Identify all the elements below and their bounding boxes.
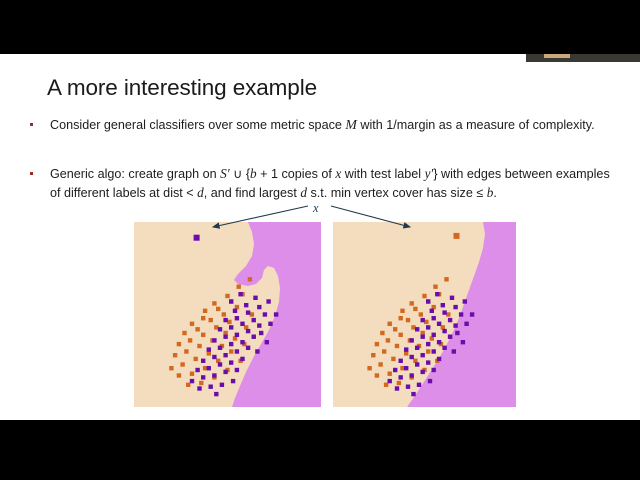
data-point [459,312,463,316]
data-point [218,327,222,331]
data-point [209,318,213,322]
data-point [220,344,224,348]
data-point [223,370,227,374]
data-point [371,353,375,357]
data-point [399,375,403,379]
data-point [180,362,184,366]
data-point [461,340,465,344]
data-point [426,360,430,364]
data-point [441,303,445,307]
data-point [190,322,194,326]
data-point [268,322,272,326]
data-point [190,372,194,376]
data-point [235,368,239,372]
data-point [399,316,403,320]
data-point [194,357,198,361]
data-point [240,322,244,326]
data-point [415,327,419,331]
data-point [218,362,222,366]
left-data-points [169,277,278,396]
data-point [257,305,261,309]
data-point [238,359,242,363]
arrow-to-right-panel [331,206,410,227]
data-point [455,331,459,335]
data-point [442,346,446,350]
data-point [417,383,421,387]
data-point [413,307,417,311]
data-point [244,303,248,307]
data-point [426,349,430,353]
data-point [229,325,233,329]
left-decision-boundary [232,222,321,407]
bullet-text-2: Generic algo: create graph on S′ ∪ {b + … [50,165,620,202]
data-point [266,299,270,303]
data-point [415,362,419,366]
data-point [233,309,237,313]
data-point [375,373,379,377]
data-point [199,381,203,385]
data-point [229,342,233,346]
page-title: A more interesting example [47,75,317,101]
bullet-text-1: Consider general classifiers over some m… [50,116,595,135]
data-point [391,357,395,361]
data-point [252,318,256,322]
data-point [190,379,194,383]
data-point [240,292,244,296]
data-point [421,318,425,322]
data-point [177,373,181,377]
data-point [426,342,430,346]
annotation-label-x: x [313,201,319,216]
data-point [375,342,379,346]
annotation-arrows [0,54,640,420]
arrow-to-left-panel [213,206,308,227]
data-point [246,346,250,350]
data-point [448,318,452,322]
data-point [223,335,227,339]
data-point [207,366,211,370]
data-point [421,370,425,374]
data-point [201,333,205,337]
data-point [406,385,410,389]
data-point [197,386,201,390]
data-point [274,312,278,316]
data-point [463,299,467,303]
data-point [410,338,414,342]
data-point [424,320,428,324]
left-panel-plot [134,222,321,407]
right-test-point [454,233,460,239]
data-point [426,325,430,329]
data-point [435,359,439,363]
data-point [223,331,227,335]
data-point [410,301,414,305]
data-point [203,366,207,370]
data-point [453,323,457,327]
data-point [235,316,239,320]
data-point [410,373,414,377]
data-point [437,322,441,326]
data-point [448,335,452,339]
data-point [421,335,425,339]
data-point [421,331,425,335]
left-panel [134,222,321,407]
right-data-points [367,277,474,396]
data-point [240,357,244,361]
data-point [393,368,397,372]
data-point [386,338,390,342]
data-point [410,355,414,359]
data-point [212,355,216,359]
data-point [203,309,207,313]
data-point [388,379,392,383]
data-point [248,277,252,281]
data-point [216,307,220,311]
data-point [246,329,250,333]
data-point [214,392,218,396]
bullet-marker-icon [30,123,33,126]
data-point [182,331,186,335]
data-point [432,316,436,320]
data-point [430,309,434,313]
data-point [419,312,423,316]
data-point [223,353,227,357]
data-point [367,366,371,370]
data-point [201,316,205,320]
data-point [177,342,181,346]
data-point [421,353,425,357]
data-point [437,292,441,296]
data-point [186,383,190,387]
data-point [439,342,443,346]
data-point [432,349,436,353]
data-point [410,375,414,379]
data-point [397,381,401,385]
data-point [452,349,456,353]
data-point [263,312,267,316]
data-point [238,292,242,296]
data-point [253,296,257,300]
data-point [400,309,404,313]
data-point [235,333,239,337]
figure-two-classifiers: x [0,54,640,420]
data-point [432,333,436,337]
data-point [225,294,229,298]
data-point [225,368,229,372]
data-point [441,325,445,329]
data-point [433,285,437,289]
data-point [380,331,384,335]
data-point [255,349,259,353]
data-point [382,349,386,353]
data-point [448,335,452,339]
data-point [395,344,399,348]
data-point [252,335,256,339]
data-point [195,368,199,372]
video-player-frame: A more interesting example Consider gene… [0,0,640,480]
data-point [252,335,256,339]
data-point [209,385,213,389]
data-point [399,333,403,337]
bullet-item-1: Consider general classifiers over some m… [30,116,620,135]
data-point [395,386,399,390]
data-point [426,299,430,303]
data-point [415,346,419,350]
bullet-marker-icon [30,172,33,175]
data-point [435,292,439,296]
data-point [212,301,216,305]
right-decision-boundary [407,222,516,407]
data-point [220,383,224,387]
data-point [442,329,446,333]
data-point [446,312,450,316]
data-point [470,312,474,316]
data-point [400,366,404,370]
data-point [227,320,231,324]
data-point [404,366,408,370]
data-point [231,379,235,383]
data-point [173,353,177,357]
data-point [207,347,211,351]
data-point [437,340,441,344]
data-point [413,359,417,363]
right-region-tan [333,222,516,407]
data-point [169,366,173,370]
data-point [432,368,436,372]
data-point [237,285,241,289]
data-point [428,379,432,383]
data-point [222,312,226,316]
data-point [404,351,408,355]
data-point [235,349,239,353]
data-point [210,338,214,342]
data-point [197,344,201,348]
data-point [444,277,448,281]
data-point [265,340,269,344]
data-point [195,327,199,331]
data-point [442,310,446,314]
data-point [235,305,239,309]
data-point [184,349,188,353]
data-point [216,359,220,363]
data-point [218,346,222,350]
data-point [229,299,233,303]
left-region-tan [134,222,321,407]
data-point [388,372,392,376]
bullet-item-2: Generic algo: create graph on S′ ∪ {b + … [30,165,620,202]
data-point [378,362,382,366]
data-point [201,375,205,379]
data-point [233,336,237,340]
letterbox-bar-top [0,0,640,54]
left-test-point [194,235,200,241]
data-point [404,347,408,351]
data-point [250,312,254,316]
data-point [399,359,403,363]
data-point [406,318,410,322]
data-point [408,338,412,342]
data-point [384,383,388,387]
data-point [212,375,216,379]
letterbox-bar-bottom [0,420,640,480]
data-point [411,392,415,396]
data-point [207,351,211,355]
data-point [244,325,248,329]
right-panel-plot [333,222,516,407]
data-point [240,340,244,344]
right-panel [333,222,516,407]
data-point [257,323,261,327]
data-point [432,305,436,309]
data-point [229,299,233,303]
data-point [212,338,216,342]
data-point [201,359,205,363]
data-point [229,360,233,364]
data-point [242,342,246,346]
data-point [259,331,263,335]
data-point [223,318,227,322]
data-point [393,327,397,331]
data-point [422,368,426,372]
data-point [450,296,454,300]
data-point [464,322,468,326]
data-point [453,305,457,309]
data-point [437,357,441,361]
data-point [411,325,415,329]
data-point [214,325,218,329]
data-point [422,294,426,298]
data-point [229,349,233,353]
presentation-slide: A more interesting example Consider gene… [0,54,640,420]
data-point [388,322,392,326]
data-point [246,310,250,314]
data-point [212,373,216,377]
data-point [188,338,192,342]
data-point [430,336,434,340]
data-point [426,299,430,303]
data-point [417,344,421,348]
